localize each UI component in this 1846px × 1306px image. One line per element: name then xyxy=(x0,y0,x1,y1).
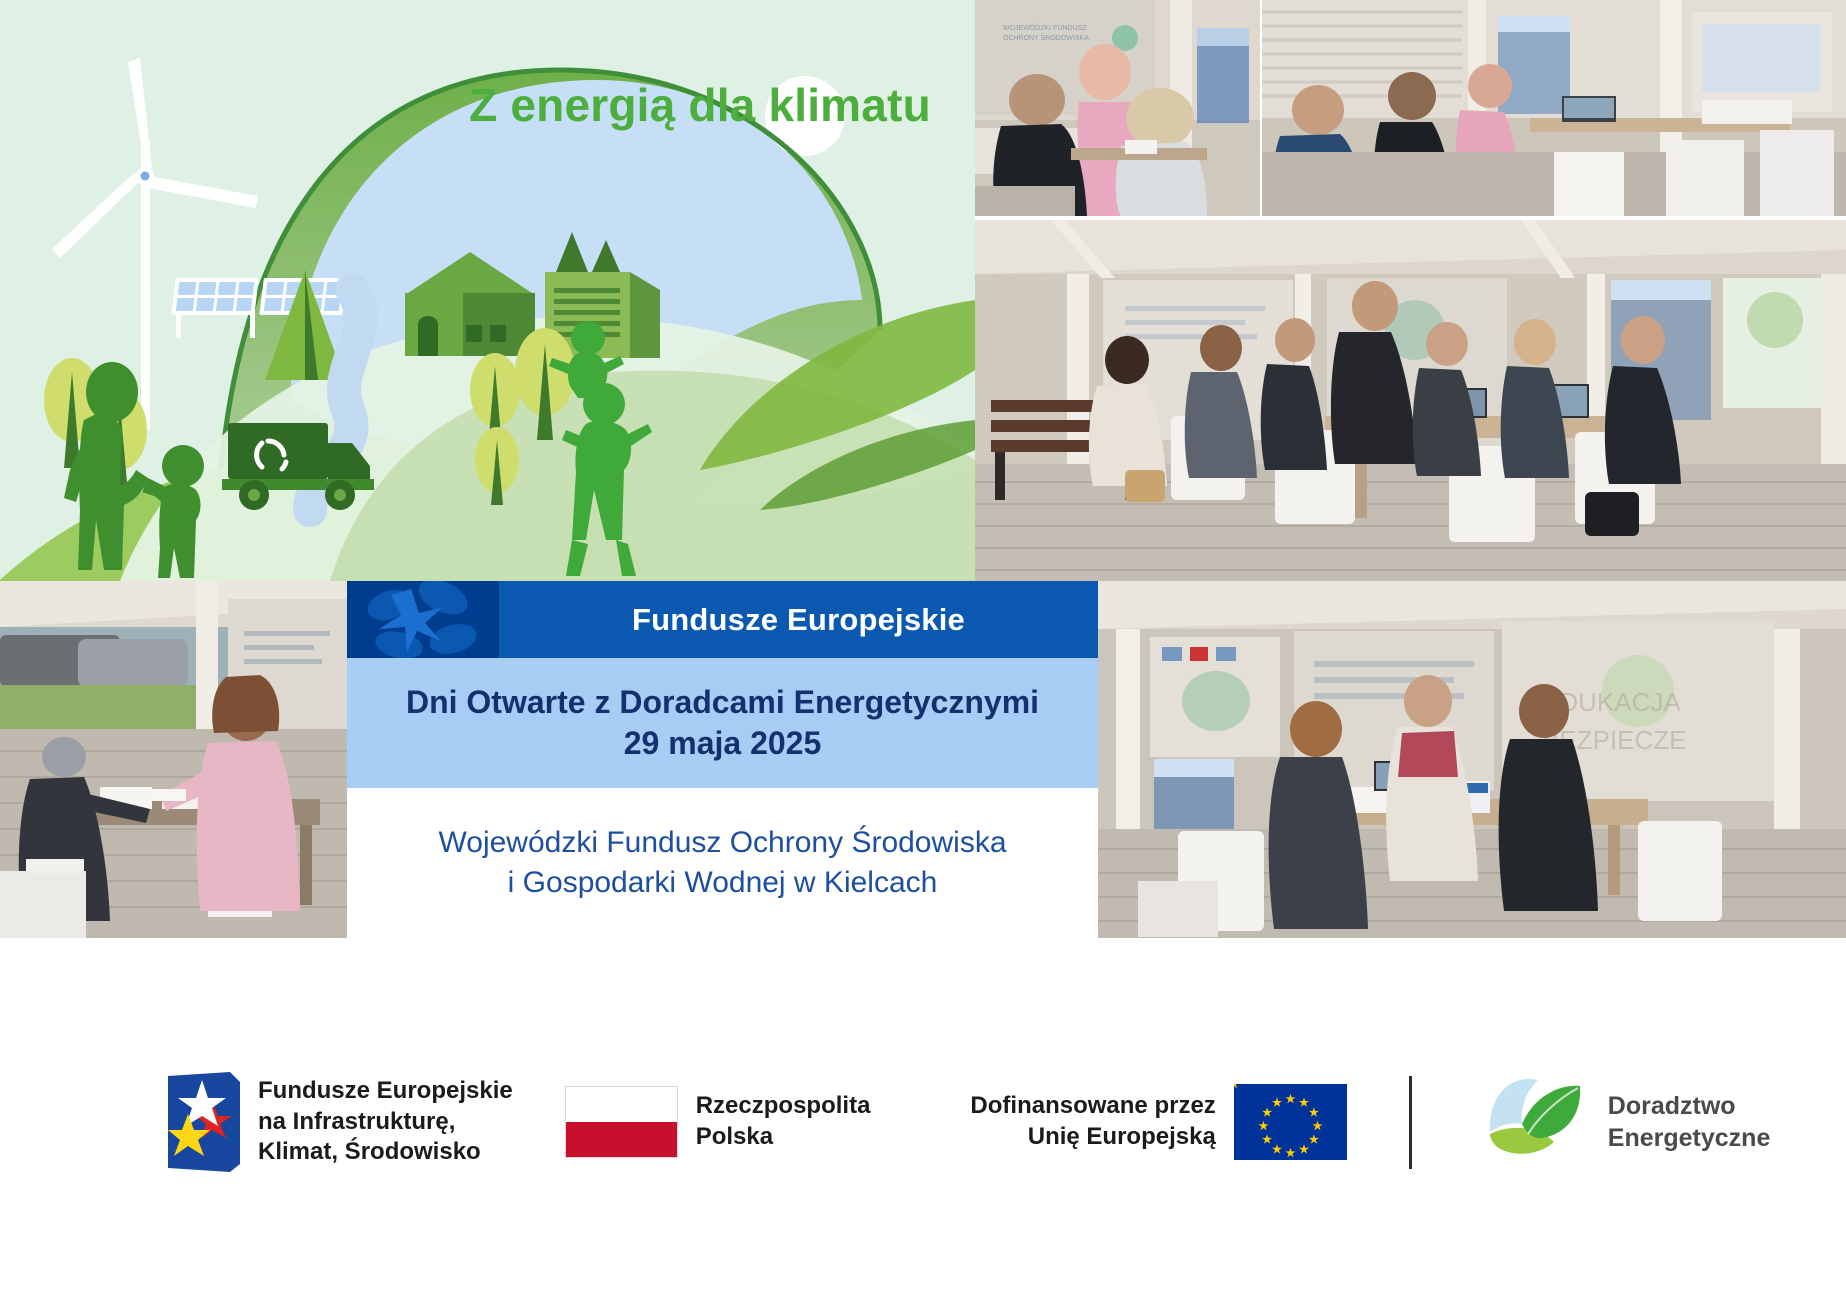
photo-left-mid-image xyxy=(0,581,347,938)
pl-label-line-1: Rzeczpospolita xyxy=(696,1091,871,1122)
unia-europejska-label: Dofinansowane przez Unię Europejską xyxy=(970,1091,1215,1152)
photo-wide-image xyxy=(975,220,1846,581)
doradztwo-leaf-icon xyxy=(1482,1072,1592,1173)
event-info-block: Dni Otwarte z Doradcami Energetycznymi 2… xyxy=(347,658,1098,788)
photo-wide xyxy=(975,220,1846,581)
photo-top-left-image: WOJEWÓDZKI FUNDUSZ OCHRONY ŚRODOWISKA xyxy=(975,0,1260,216)
fe-label-line-1: Fundusze Europejskie xyxy=(258,1076,513,1107)
event-date: 29 maja 2025 xyxy=(624,725,822,762)
footer-divider xyxy=(1409,1076,1412,1169)
organizer-line-2: i Gospodarki Wodnej w Kielcach xyxy=(508,866,938,900)
poland-flag-icon xyxy=(565,1086,678,1158)
event-banner: Fundusze Europejskie Dni Otwarte z Dorad… xyxy=(347,581,1098,938)
eco-illustration-panel: Z energią dla klimatu xyxy=(0,0,975,581)
photo-top-right xyxy=(1262,0,1846,216)
pl-label-line-2: Polska xyxy=(696,1122,871,1153)
rzeczpospolita-polska-label: Rzeczpospolita Polska xyxy=(696,1091,871,1152)
event-title: Dni Otwarte z Doradcami Energetycznymi xyxy=(406,684,1039,721)
eu-flag-icon xyxy=(1234,1084,1347,1160)
de-label-line-2: Energetyczne xyxy=(1608,1122,1771,1155)
organizer-block: Wojewódzki Fundusz Ochrony Środowiska i … xyxy=(347,788,1098,938)
organizer-line-1: Wojewódzki Fundusz Ochrony Środowiska xyxy=(438,826,1006,860)
logo-unia-europejska: Dofinansowane przez Unię Europejską xyxy=(970,1084,1346,1160)
fe-flag-graphic xyxy=(168,1072,240,1172)
illustration-slogan: Z energią dla klimatu xyxy=(430,78,970,132)
logo-doradztwo-energetyczne: Doradztwo Energetyczne xyxy=(1482,1072,1771,1173)
svg-text:WOJEWÓDZKI FUNDUSZ: WOJEWÓDZKI FUNDUSZ xyxy=(1003,23,1087,32)
photo-top-left: WOJEWÓDZKI FUNDUSZ OCHRONY ŚRODOWISKA xyxy=(975,0,1260,216)
doradztwo-leaf-graphic xyxy=(1482,1072,1592,1168)
eu-label-line-1: Dofinansowane przez xyxy=(970,1091,1215,1122)
footer-logo-bar: Fundusze Europejskie na Infrastrukturę, … xyxy=(0,938,1846,1306)
de-label-line-1: Doradztwo xyxy=(1608,1090,1771,1123)
logo-rzeczpospolita-polska: Rzeczpospolita Polska xyxy=(565,1086,871,1158)
poster-root: Z energią dla klimatu WOJEWÓDZKI FUNDUSZ… xyxy=(0,0,1846,1306)
eu-label-line-2: Unię Europejską xyxy=(970,1122,1215,1153)
fe-label-line-2: na Infrastrukturę, xyxy=(258,1107,513,1138)
photo-bottom-right-image: EDUKACJA BEZPIECZE xyxy=(1098,581,1846,938)
fe-star-mark xyxy=(347,581,499,658)
fe-label-line-3: Klimat, Środowisko xyxy=(258,1137,513,1168)
photo-left-mid xyxy=(0,581,347,938)
svg-text:OCHRONY ŚRODOWISKA: OCHRONY ŚRODOWISKA xyxy=(1003,33,1089,42)
logo-fundusze-europejskie: Fundusze Europejskie na Infrastrukturę, … xyxy=(168,1072,513,1172)
doradztwo-energetyczne-label: Doradztwo Energetyczne xyxy=(1608,1090,1771,1155)
eu-flag-graphic xyxy=(1234,1084,1347,1160)
poland-flag-white-band xyxy=(566,1087,677,1122)
photo-top-right-image xyxy=(1262,0,1846,216)
poland-flag-red-band xyxy=(566,1122,677,1157)
fe-title: Fundusze Europejskie xyxy=(499,581,1098,658)
fundusze-europejskie-label: Fundusze Europejskie na Infrastrukturę, … xyxy=(258,1076,513,1168)
photo-bottom-right: EDUKACJA BEZPIECZE xyxy=(1098,581,1846,938)
fe-star-mark-graphic xyxy=(347,581,499,658)
fundusze-europejskie-strip: Fundusze Europejskie xyxy=(347,581,1098,658)
fundusze-europejskie-flag-icon xyxy=(168,1072,240,1172)
